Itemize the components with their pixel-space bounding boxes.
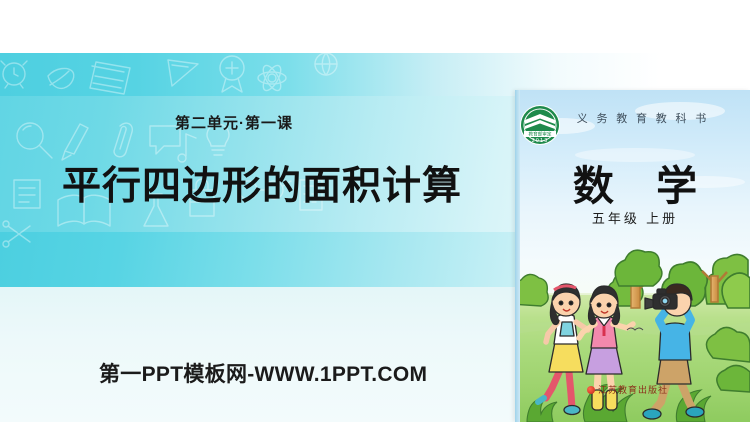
emblem-approval-text: 教育部审定: [529, 131, 552, 138]
book-title: 数 学: [545, 152, 725, 212]
book-grade-label: 五年级 上册: [555, 208, 715, 227]
site-watermark: 第一PPT模板网-WWW.1PPT.COM: [99, 358, 427, 388]
moe-approval-emblem: 教育部审定 2013: [519, 104, 561, 146]
book-series-label: 义 务 教 育 教 科 书: [573, 110, 713, 126]
emblem-year-text: 2013: [532, 138, 549, 144]
publisher-name: 江苏教育出版社: [598, 383, 668, 396]
publisher-logo-icon: [587, 386, 595, 394]
background-top-white-strip: [0, 0, 750, 53]
slide-subtitle: 第二单元·第一课: [175, 112, 293, 133]
bush-right: [706, 327, 750, 392]
textbook-cover-image: 教育部审定 2013 义 务 教 育 教 科 书 数 学 五年级 上册: [515, 90, 750, 422]
slide-main-title: 平行四边形的面积计算: [62, 155, 462, 211]
book-spine-edge: [515, 90, 520, 422]
presentation-slide: 第二单元·第一课 平行四边形的面积计算 第一PPT模板网-WWW.1PPT.CO…: [0, 0, 750, 422]
book-publisher-label: 江苏教育出版社: [587, 383, 668, 396]
